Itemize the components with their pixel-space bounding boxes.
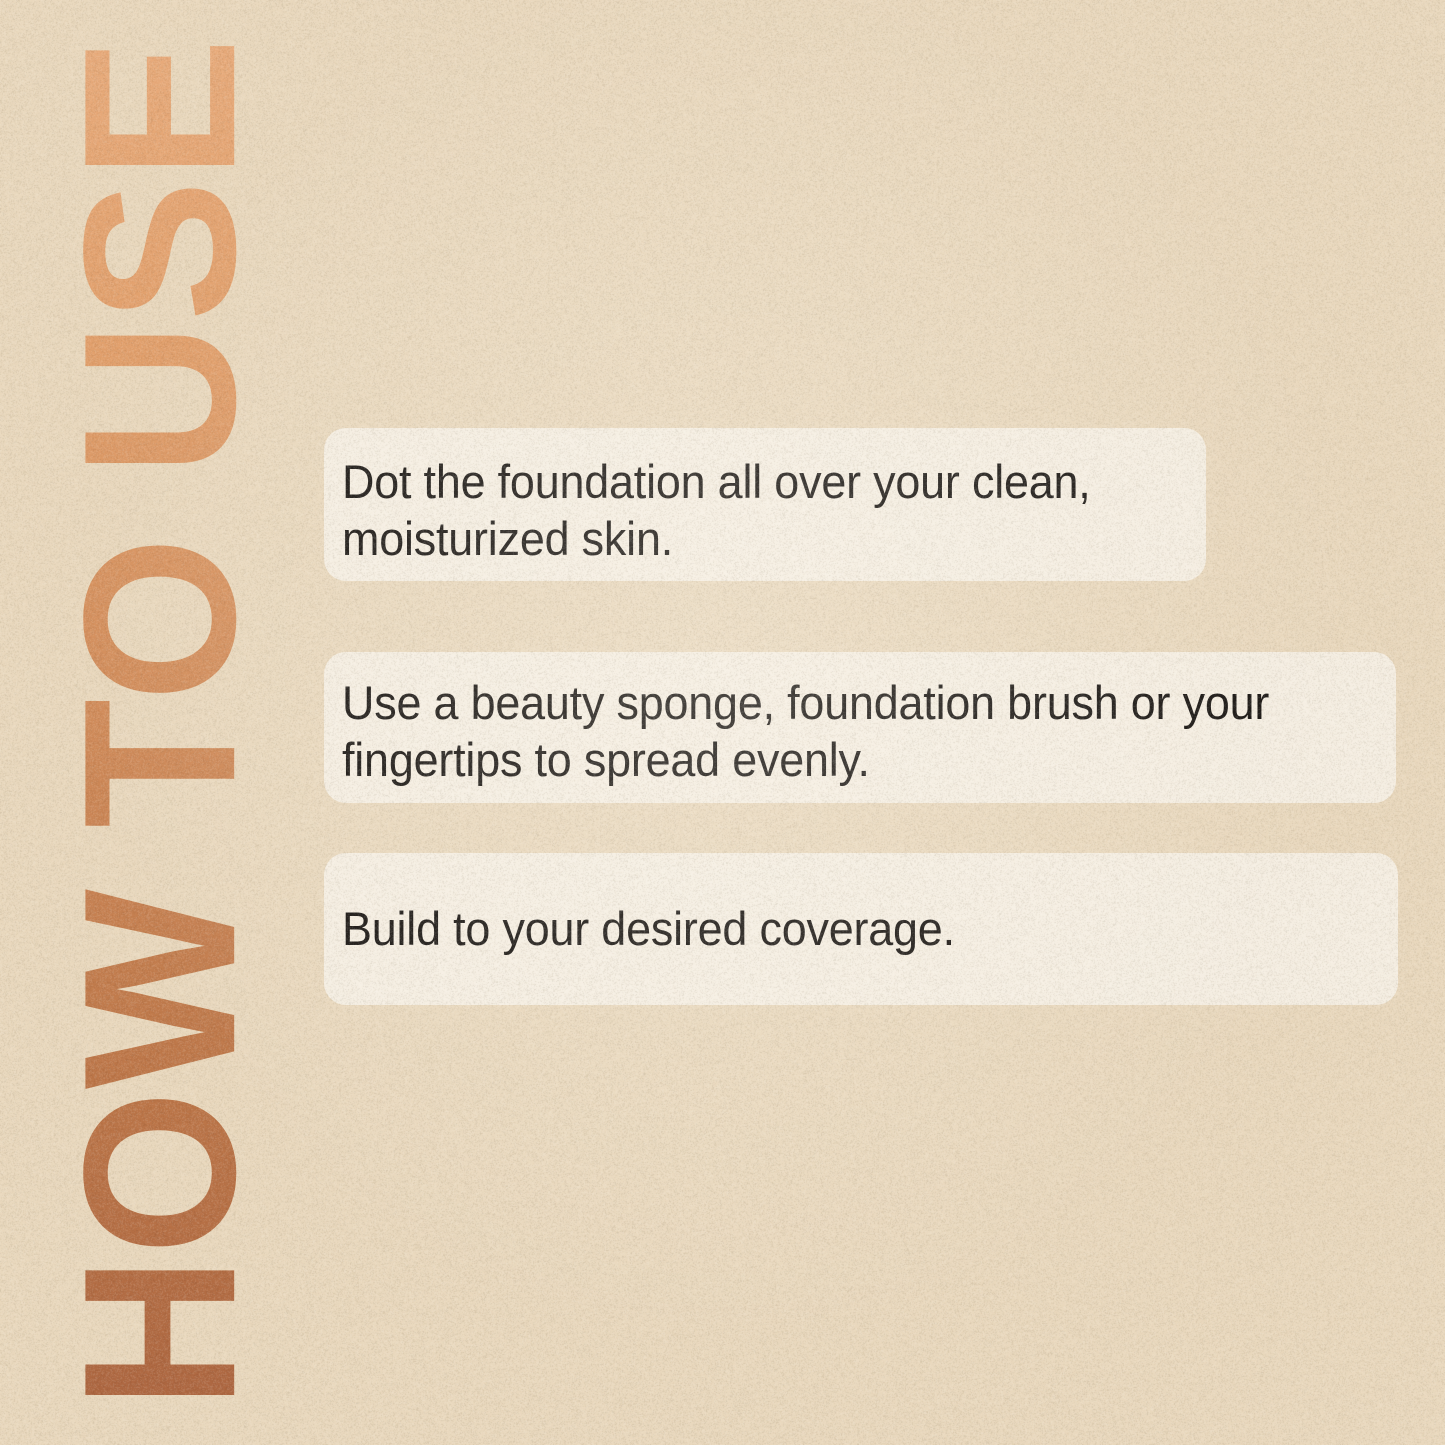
how-to-use-infographic: HOW TO USE Dot the foundation all over y… xyxy=(0,0,1445,1445)
headline-vertical: HOW TO USE xyxy=(0,0,320,1445)
page-title: HOW TO USE xyxy=(65,36,255,1408)
step-card-2: Use a beauty sponge, foundation brush or… xyxy=(324,652,1396,803)
step-card-1: Dot the foundation all over your clean, … xyxy=(324,428,1206,581)
step-card-1-text: Dot the foundation all over your clean, … xyxy=(342,453,1156,567)
step-card-3-text: Build to your desired coverage. xyxy=(342,900,1339,957)
step-card-3: Build to your desired coverage. xyxy=(324,853,1398,1005)
step-card-2-text: Use a beauty sponge, foundation brush or… xyxy=(342,674,1337,788)
headline-rotation-container: HOW TO USE xyxy=(67,36,254,1408)
